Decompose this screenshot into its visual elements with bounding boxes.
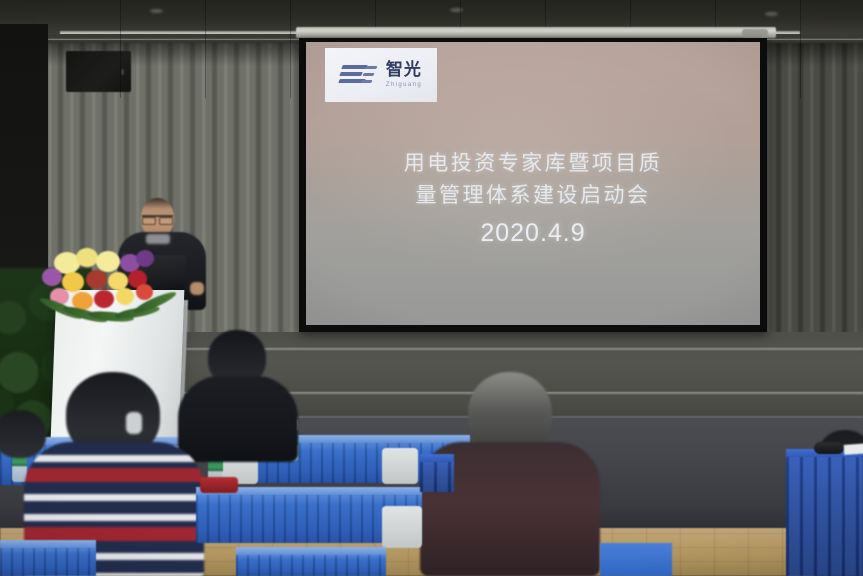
paper-on-side-table xyxy=(844,443,863,455)
flower-arrangement xyxy=(36,248,168,334)
red-item-on-table xyxy=(200,477,238,493)
presenter-collar xyxy=(146,234,170,244)
conference-photo-scene: 智光 Zhiguang 用电投资专家库暨项目质 量管理体系建设启动会 2020.… xyxy=(0,0,863,576)
chair-back xyxy=(382,448,418,484)
chair-back xyxy=(382,506,422,548)
side-table-skirt xyxy=(786,457,863,576)
ceiling-light-icon xyxy=(765,12,778,16)
logo-wordmark: 智光 Zhiguang xyxy=(386,62,422,88)
slide-text-block: 用电投资专家库暨项目质 量管理体系建设启动会 2020.4.9 xyxy=(306,148,760,248)
slide-title-line-2: 量管理体系建设启动会 xyxy=(306,180,760,212)
wall-panel-seam xyxy=(205,0,206,98)
ceiling-light-icon xyxy=(150,9,163,13)
wall-speaker-box xyxy=(66,51,131,92)
wall-panel-seam xyxy=(800,0,801,98)
wall-panel-seam xyxy=(290,0,291,98)
dark-object-on-side-table xyxy=(814,442,844,454)
slide-title-line-1: 用电投资专家库暨项目质 xyxy=(306,148,760,180)
table-skirt-mid xyxy=(420,462,454,492)
presenter-hand xyxy=(190,282,204,295)
wall-panel-seam xyxy=(120,0,121,98)
face-mask-edge xyxy=(126,412,142,434)
slide-date: 2020.4.9 xyxy=(306,219,760,248)
screen-roller-knob xyxy=(742,29,768,38)
table-skirt-frontmost-right xyxy=(236,555,386,576)
logo-chinese-name: 智光 xyxy=(386,62,422,79)
curtain-right xyxy=(766,40,863,362)
glasses-icon xyxy=(142,215,173,223)
logo-pinyin: Zhiguang xyxy=(386,82,422,88)
zhiguang-logo-icon xyxy=(340,60,380,90)
screen-roller-housing xyxy=(296,27,776,38)
ceiling-light-icon xyxy=(450,8,463,12)
projection-screen-surface: 智光 Zhiguang 用电投资专家库暨项目质 量管理体系建设启动会 2020.… xyxy=(306,42,760,325)
table-skirt-frontmost xyxy=(0,548,96,576)
blue-floor-mat xyxy=(600,543,672,576)
slide-logo: 智光 Zhiguang xyxy=(325,48,437,102)
projection-screen-frame: 智光 Zhiguang 用电投资专家库暨项目质 量管理体系建设启动会 2020.… xyxy=(299,38,767,332)
